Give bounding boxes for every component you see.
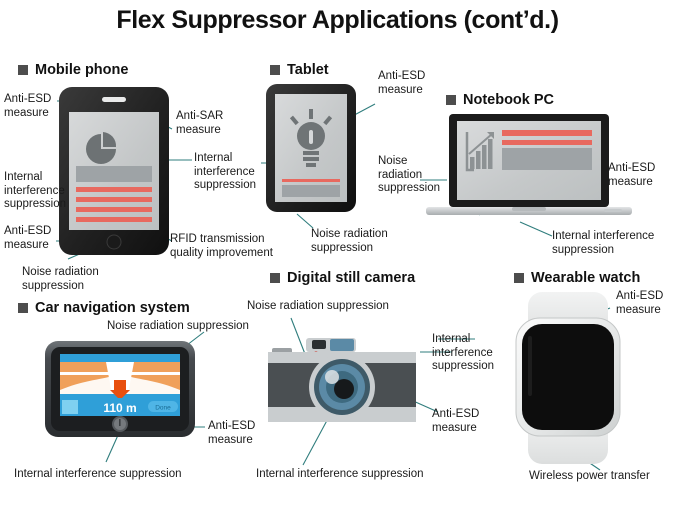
page-title: Flex Suppressor Applications (cont’d.) — [0, 6, 675, 35]
label-camera-noise: Noise radiation suppression — [247, 300, 389, 314]
label-watch-wireless: Wireless power transfer — [529, 470, 650, 484]
bullet-square-icon — [18, 65, 28, 75]
bullet-square-icon — [270, 65, 280, 75]
nav-done-text: Done — [155, 405, 171, 412]
heading-text: Digital still camera — [287, 270, 415, 286]
bullet-square-icon — [270, 273, 280, 283]
section-heading-mobile-phone: Mobile phone — [18, 62, 128, 78]
label-camera-internal-bottom: Internal interference suppression — [256, 468, 424, 482]
label-notebook-internal: Internal interference suppression — [552, 230, 654, 257]
section-heading-tablet: Tablet — [270, 62, 329, 78]
section-heading-digital-camera: Digital still camera — [270, 270, 415, 286]
heading-text: Notebook PC — [463, 92, 554, 108]
section-heading-notebook-pc: Notebook PC — [446, 92, 554, 108]
label-nav-anti-esd: Anti-ESD measure — [208, 420, 255, 447]
bullet-square-icon — [514, 273, 524, 283]
device-wearable-watch — [498, 292, 638, 464]
section-heading-car-navigation: Car navigation system — [18, 300, 190, 316]
label-nav-noise: Noise radiation suppression — [107, 320, 249, 334]
label-notebook-anti-esd: Anti-ESD measure — [608, 162, 655, 189]
label-camera-internal-right: Internal interference suppression — [432, 333, 494, 374]
device-notebook-pc — [424, 112, 634, 222]
label-phone-noise: Noise radiation suppression — [22, 266, 99, 293]
label-tablet-noise: Noise radiation suppression — [311, 228, 388, 255]
heading-text: Wearable watch — [531, 270, 640, 286]
label-phone-internal-right: Internal interference suppression — [194, 152, 256, 193]
label-phone-anti-esd-top: Anti-ESD measure — [4, 93, 51, 120]
device-car-navigation: 110 m Done — [44, 340, 196, 440]
heading-text: Mobile phone — [35, 62, 128, 78]
device-digital-camera — [268, 335, 416, 435]
label-notebook-noise: Noise radiation suppression — [378, 155, 440, 196]
device-tablet — [265, 83, 357, 213]
section-heading-wearable-watch: Wearable watch — [514, 270, 640, 286]
device-mobile-phone — [58, 86, 170, 256]
label-phone-rfid: RFID transmission quality improvement — [170, 233, 273, 260]
label-camera-anti-esd: Anti-ESD measure — [432, 408, 479, 435]
label-phone-anti-sar: Anti-SAR measure — [176, 110, 223, 137]
bullet-square-icon — [18, 303, 28, 313]
label-watch-anti-esd: Anti-ESD measure — [616, 290, 663, 317]
label-tablet-anti-esd: Anti-ESD measure — [378, 70, 425, 97]
heading-text: Tablet — [287, 62, 329, 78]
slide-canvas: Flex Suppressor Applications (cont’d.) — [0, 0, 675, 506]
label-phone-internal-left: Internal interference suppression — [4, 171, 66, 212]
label-nav-internal: Internal interference suppression — [14, 468, 182, 482]
label-phone-anti-esd-bottom: Anti-ESD measure — [4, 225, 51, 252]
nav-distance-text: 110 m — [103, 401, 136, 415]
bullet-square-icon — [446, 95, 456, 105]
heading-text: Car navigation system — [35, 300, 190, 316]
